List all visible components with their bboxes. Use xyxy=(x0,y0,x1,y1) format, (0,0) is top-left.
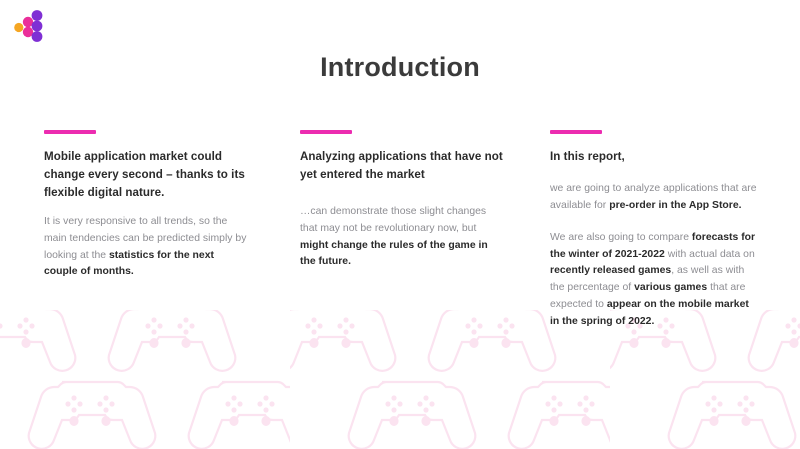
column-3: In this report, we are going to analyze … xyxy=(550,130,758,331)
page-title: Introduction xyxy=(0,52,800,83)
purple-dot-bottom xyxy=(32,31,43,42)
column-2: Analyzing applications that have not yet… xyxy=(300,130,504,271)
purple-dot-top xyxy=(32,10,43,21)
column-3-heading: In this report, xyxy=(550,148,758,166)
column-3-paragraph-1: we are going to analyze applications tha… xyxy=(550,181,758,215)
emphasized-text: pre-order in the App Store. xyxy=(609,200,741,211)
accent-bar-2 xyxy=(300,130,352,134)
column-1-paragraph-1: It is very responsive to all trends, so … xyxy=(44,214,248,281)
accent-bar-1 xyxy=(44,130,96,134)
column-2-paragraph-1: …can demonstrate those slight changes th… xyxy=(300,204,504,271)
emphasized-text: recently released games xyxy=(550,265,671,276)
purple-dot-middle xyxy=(32,21,43,32)
body-text: with actual data on xyxy=(665,249,755,260)
brand-logo xyxy=(14,8,44,44)
orange-dot xyxy=(14,23,23,32)
emphasized-text: might change the rules of the game in th… xyxy=(300,240,488,268)
column-3-paragraph-2: We are also going to compare forecasts f… xyxy=(550,230,758,331)
body-text: We are also going to compare xyxy=(550,232,692,243)
magenta-dot-bottom xyxy=(23,27,33,37)
column-1-heading: Mobile application market could change e… xyxy=(44,148,248,202)
column-1: Mobile application market could change e… xyxy=(44,130,248,281)
slide-root: Introduction Mobile application market c… xyxy=(0,0,800,449)
column-2-heading: Analyzing applications that have not yet… xyxy=(300,148,504,184)
emphasized-text: various games xyxy=(634,282,707,293)
body-text: …can demonstrate those slight changes th… xyxy=(300,206,486,234)
accent-bar-3 xyxy=(550,130,602,134)
